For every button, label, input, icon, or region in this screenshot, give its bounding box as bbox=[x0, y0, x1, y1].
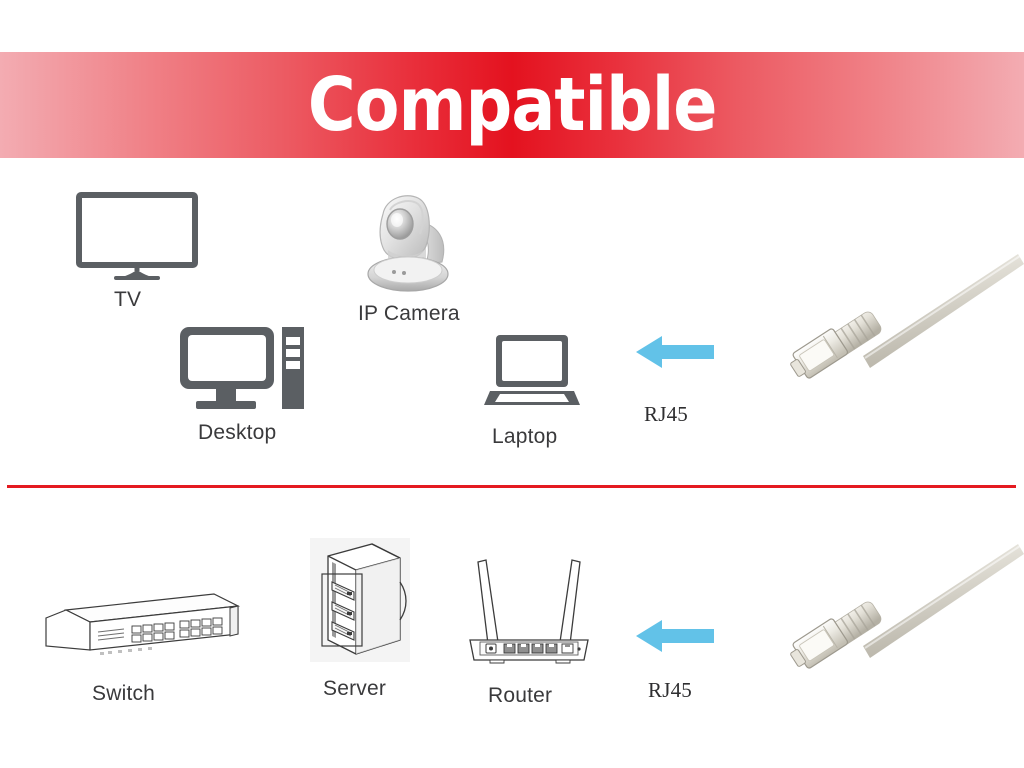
ethernet-cable-top bbox=[786, 250, 1024, 410]
ip-camera-icon bbox=[356, 188, 460, 298]
server-rack-icon bbox=[310, 538, 410, 666]
ethernet-cable-icon bbox=[786, 250, 1024, 410]
arrow-left-icon bbox=[636, 334, 714, 370]
compatibility-diagram: Compatible TV bbox=[0, 0, 1024, 768]
device-switch: Switch bbox=[42, 588, 242, 666]
section-divider bbox=[7, 485, 1016, 488]
router-icon bbox=[462, 548, 596, 666]
device-ip-camera: IP Camera bbox=[356, 188, 460, 298]
device-tv: TV bbox=[76, 192, 198, 282]
ethernet-cable-icon bbox=[786, 540, 1024, 700]
arrow-left-icon bbox=[636, 618, 714, 654]
desktop-icon bbox=[178, 325, 306, 415]
device-label-server: Server bbox=[323, 677, 386, 701]
network-switch-icon bbox=[42, 588, 242, 666]
device-label-switch: Switch bbox=[92, 682, 155, 706]
header-banner: Compatible bbox=[0, 52, 1024, 158]
page-title: Compatible bbox=[308, 68, 717, 142]
device-label-laptop: Laptop bbox=[492, 425, 557, 449]
tv-icon bbox=[76, 192, 198, 282]
device-label-tv: TV bbox=[114, 288, 141, 312]
laptop-icon bbox=[484, 333, 580, 411]
device-label-router: Router bbox=[488, 684, 552, 708]
ethernet-cable-bottom bbox=[786, 540, 1024, 700]
device-server: Server bbox=[310, 538, 410, 666]
connector-label-rj45-bottom: RJ45 bbox=[648, 678, 692, 703]
device-label-desktop: Desktop bbox=[198, 421, 276, 445]
device-laptop: Laptop bbox=[484, 333, 580, 411]
device-desktop: Desktop bbox=[178, 325, 306, 415]
connector-label-rj45-top: RJ45 bbox=[644, 402, 688, 427]
device-router: Router bbox=[462, 548, 596, 666]
device-label-ip-camera: IP Camera bbox=[358, 302, 460, 326]
